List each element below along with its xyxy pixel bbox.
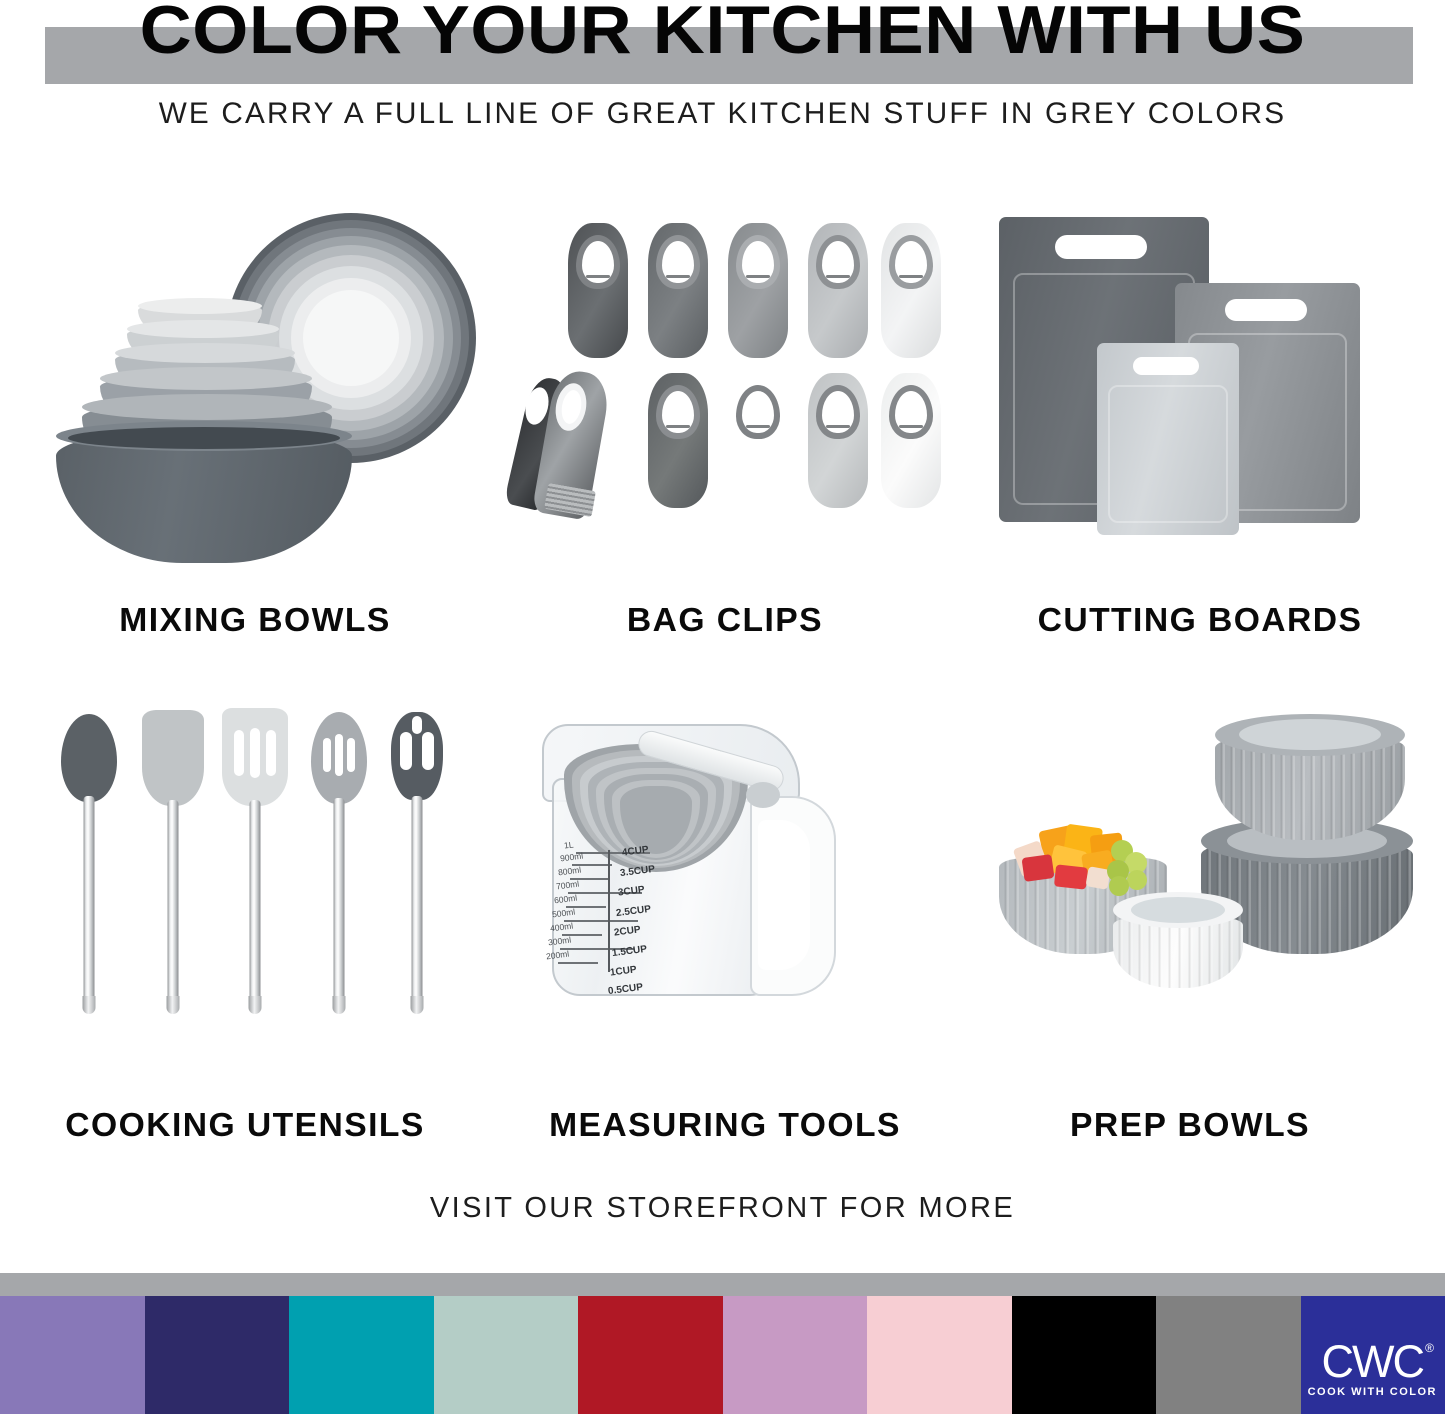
mixing-bowls-icon (30, 195, 480, 585)
product-tile-prep-bowls[interactable] (975, 700, 1425, 1090)
product-tile-cutting-boards[interactable] (975, 195, 1425, 585)
swatch-teal (289, 1296, 434, 1414)
swatch-crimson (578, 1296, 723, 1414)
page-title: COLOR YOUR KITCHEN WITH US (0, 0, 1445, 64)
prep-bowl-medium (1215, 714, 1405, 840)
product-tile-bag-clips[interactable] (500, 195, 950, 585)
logo-tagline: COOK WITH COLOR (1308, 1386, 1437, 1398)
header: COLOR YOUR KITCHEN WITH US WE CARRY A FU… (0, 0, 1445, 150)
product-tile-cooking-utensils[interactable] (30, 700, 480, 1090)
product-tile-measuring-tools[interactable]: 1L 900ml 800ml 700ml 600ml 500ml 400ml 3… (500, 700, 950, 1090)
page-subtitle: WE CARRY A FULL LINE OF GREAT KITCHEN ST… (7, 97, 1438, 131)
cooking-utensils-icon (30, 700, 480, 1090)
product-label-mixing-bowls: MIXING BOWLS (26, 601, 485, 639)
color-swatch-strip: CWC® COOK WITH COLOR (0, 1296, 1445, 1414)
utensil-solid-spoon (52, 700, 126, 1040)
swatch-royal-blue: CWC® COOK WITH COLOR (1301, 1296, 1445, 1414)
registered-trademark-icon: ® (1425, 1343, 1434, 1354)
storefront-callout[interactable]: VISIT OUR STOREFRONT FOR MORE (0, 1192, 1445, 1225)
swatch-navy (145, 1296, 290, 1414)
product-tile-mixing-bowls[interactable] (30, 195, 480, 585)
product-label-bag-clips: BAG CLIPS (496, 601, 955, 639)
swatch-orchid (723, 1296, 868, 1414)
product-label-prep-bowls: PREP BOWLS (961, 1106, 1420, 1144)
scale-ml-1l: 1L (563, 839, 574, 850)
prep-bowl-small-white (1113, 892, 1243, 988)
swatch-grey (1156, 1296, 1301, 1414)
measuring-tools-icon: 1L 900ml 800ml 700ml 600ml 500ml 400ml 3… (500, 700, 950, 1090)
utensil-slotted-turner (218, 700, 292, 1040)
utensil-pasta-server (380, 700, 454, 1040)
swatch-sage (434, 1296, 579, 1414)
logo-wordmark: CWC® (1322, 1341, 1423, 1384)
swatch-blush-pink (867, 1296, 1012, 1414)
bag-clips-icon (500, 195, 950, 585)
product-label-cooking-utensils: COOKING UTENSILS (16, 1106, 475, 1144)
logo-mark-text: CWC (1322, 1336, 1423, 1387)
cutting-boards-icon (975, 195, 1425, 585)
swatch-black (1012, 1296, 1157, 1414)
brand-logo: CWC® COOK WITH COLOR (1308, 1341, 1437, 1398)
utensil-slotted-spoon (302, 700, 376, 1040)
swatch-purple (0, 1296, 145, 1414)
product-label-measuring-tools: MEASURING TOOLS (496, 1106, 955, 1144)
product-infographic: COLOR YOUR KITCHEN WITH US WE CARRY A FU… (0, 0, 1445, 1414)
color-strip-divider (0, 1273, 1445, 1296)
utensil-spatula (136, 700, 210, 1040)
prep-bowls-icon (975, 700, 1425, 1090)
product-label-cutting-boards: CUTTING BOARDS (971, 601, 1430, 639)
